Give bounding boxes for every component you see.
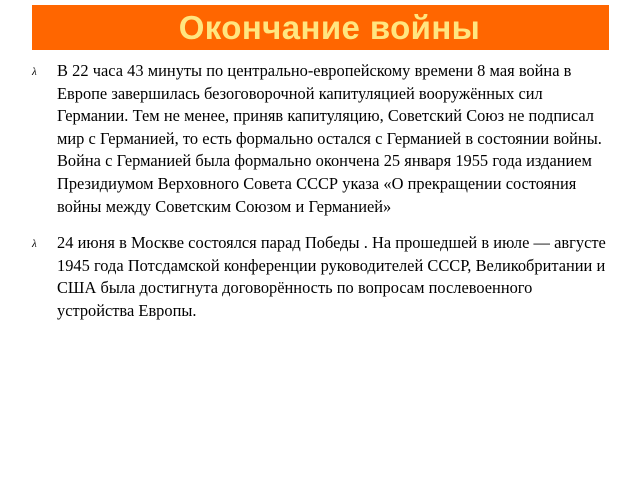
lambda-bullet-icon: λ bbox=[32, 234, 48, 254]
slide-canvas: Окончание войны λ В 22 часа 43 минуты по… bbox=[0, 0, 640, 480]
list-item: λ В 22 часа 43 минуты по центрально-евро… bbox=[0, 60, 640, 218]
bullet-list: λ В 22 часа 43 минуты по центрально-евро… bbox=[0, 60, 640, 337]
bullet-paragraph: 24 июня в Москве состоялся парад Победы … bbox=[57, 232, 612, 322]
list-item: λ 24 июня в Москве состоялся парад Побед… bbox=[0, 232, 640, 322]
lambda-bullet-icon: λ bbox=[32, 62, 48, 82]
bullet-paragraph: В 22 часа 43 минуты по центрально-европе… bbox=[57, 60, 612, 218]
page-title: Окончание войны bbox=[161, 11, 481, 44]
title-banner: Окончание войны bbox=[32, 5, 609, 50]
